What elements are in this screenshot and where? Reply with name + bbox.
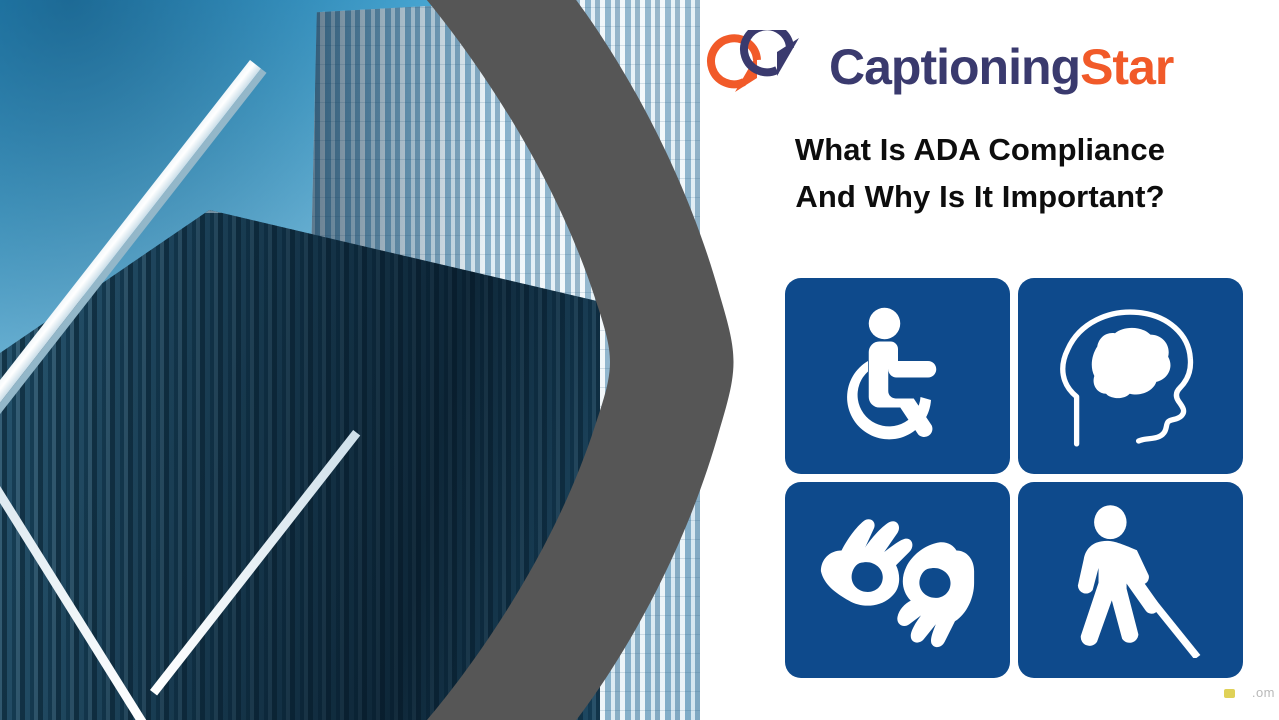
logo-word-captioning: Captioning bbox=[829, 39, 1080, 95]
wheelchair-accessibility-icon bbox=[823, 301, 973, 451]
accessibility-tile-wheelchair[interactable] bbox=[785, 278, 1010, 474]
logo-wordmark: CaptioningStar bbox=[829, 42, 1173, 92]
logo-word-star: Star bbox=[1080, 39, 1173, 95]
slide-title-line-1: What Is ADA Compliance bbox=[700, 126, 1260, 173]
slide-title: What Is ADA Compliance And Why Is It Imp… bbox=[700, 126, 1260, 220]
accessibility-tile-cognitive[interactable] bbox=[1018, 278, 1243, 474]
captioningstar-logo[interactable]: CaptioningStar bbox=[705, 28, 1205, 106]
presentation-slide: CaptioningStar What Is ADA Compliance An… bbox=[0, 0, 1279, 720]
captioningstar-circular-arrows-logo bbox=[705, 30, 827, 104]
blind-person-white-cane-icon bbox=[1056, 503, 1206, 658]
slide-title-line-2: And Why Is It Important? bbox=[700, 173, 1260, 220]
cognitive-brain-head-icon bbox=[1053, 301, 1208, 451]
watermark-mark bbox=[1224, 689, 1235, 698]
accessibility-tile-blind-cane[interactable] bbox=[1018, 482, 1243, 678]
accessibility-tile-sign-language[interactable] bbox=[785, 482, 1010, 678]
accessibility-icon-grid bbox=[785, 278, 1255, 678]
right-content-panel: CaptioningStar What Is ADA Compliance An… bbox=[700, 0, 1279, 720]
sign-language-hands-icon bbox=[815, 505, 980, 655]
watermark-text: .om bbox=[1252, 685, 1275, 700]
